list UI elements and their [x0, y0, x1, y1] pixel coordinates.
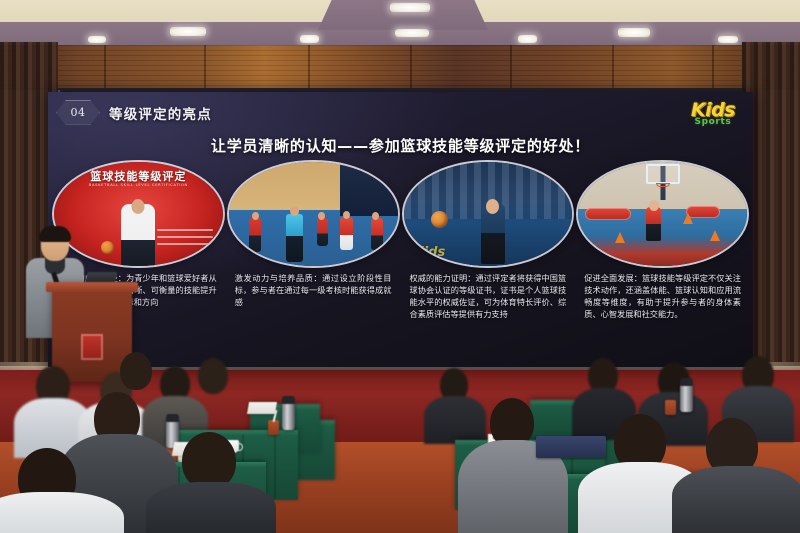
poster-person-head: [132, 199, 145, 214]
thermos-cap: [282, 396, 295, 404]
section-title: 等级评定的亮点: [109, 103, 212, 123]
kids-sports-logo: Kids Sports: [691, 101, 735, 127]
iced-drink-glass: [268, 420, 279, 435]
gym-backwall: [340, 162, 397, 216]
audience-head: [120, 352, 152, 390]
section-number-badge: 04: [56, 100, 100, 125]
player-blue: [286, 214, 303, 262]
audience-person: [0, 492, 124, 533]
handout-paper: [247, 402, 277, 414]
audience-person: [146, 482, 276, 533]
drill-player: [646, 207, 661, 241]
ceiling-downlight: [88, 36, 106, 43]
player-red: [340, 217, 353, 250]
training-cone: [683, 213, 693, 224]
audience-head: [198, 358, 228, 394]
podium-top: [46, 282, 138, 292]
player-red: [249, 218, 261, 252]
wall-seam: [612, 45, 614, 90]
player-head: [252, 212, 259, 220]
thermos-flask: [680, 382, 693, 412]
ceiling-downlight: [518, 35, 537, 43]
iced-drink-glass: [665, 400, 676, 415]
backboard: [646, 164, 680, 184]
training-cone: [710, 230, 720, 241]
ceiling-downlight: [300, 35, 319, 43]
wall-seam: [204, 45, 206, 90]
hoop-rim: [656, 183, 670, 187]
player-red: [371, 218, 383, 250]
thermos-flask: [282, 400, 295, 430]
ceiling-downlight: [618, 28, 650, 37]
poster-subtitle: BASKETBALL SKILL LEVEL CERTIFICATION: [54, 183, 223, 187]
audience-person: [672, 466, 800, 533]
photo-boy-dribbling-image: Kids: [404, 162, 573, 266]
projection-screen: 04 等级评定的亮点 Kids Sports 让学员清晰的认知——参加篮球技能等…: [48, 92, 753, 367]
screenshot-root: 04 等级评定的亮点 Kids Sports 让学员清晰的认知——参加篮球技能等…: [0, 0, 800, 533]
slide-card: 激发动力与培养品质：通过设立阶段性目标，参与者在通过每一级考核时能获得成就感: [229, 162, 398, 321]
ceiling-downlight: [170, 27, 206, 36]
thermos-cap: [166, 414, 179, 422]
photo-kids-playing-basketball-image: [229, 162, 398, 266]
card-text: 促进全面发展：篮球技能等级评定不仅关注技术动作，还涵盖体能、篮球认知和应用流畅度…: [578, 273, 747, 321]
brand-sports-text: Sports: [691, 118, 735, 127]
ceiling-downlight: [395, 29, 429, 37]
slide-cards: 篮球技能等级评定 BASKETBALL SKILL LEVEL CERTIFIC…: [54, 162, 747, 321]
player-head: [290, 206, 299, 216]
slide-card: 促进全面发展：篮球技能等级评定不仅关注技术动作，还涵盖体能、篮球认知和应用流畅度…: [578, 162, 747, 321]
ceiling-downlight: [390, 3, 430, 12]
training-cone: [615, 232, 625, 243]
wall-seam: [510, 45, 512, 90]
audience-person: [424, 396, 486, 444]
document-folder: [536, 436, 606, 458]
floor-kids-logo: Kids: [414, 245, 446, 260]
poster-title: 篮球技能等级评定: [54, 168, 223, 184]
wall-seam: [104, 45, 106, 90]
thermos-cap: [680, 378, 693, 386]
section-number: 04: [71, 106, 86, 119]
player-red: [317, 218, 328, 246]
card-text: 激发动力与培养品质：通过设立阶段性目标，参与者在通过每一级考核时能获得成就感: [229, 273, 398, 309]
wall-seam: [410, 45, 412, 90]
presenter-hair: [39, 226, 71, 242]
slide-card: Kids 权威的能力证明：通过评定者将获得中国篮球协会认证的等级证书，证书是个人…: [404, 162, 573, 321]
wall-seam: [712, 45, 714, 90]
basketball-icon: [101, 241, 114, 254]
poster-credit-lines: [157, 229, 213, 250]
court-banner: [585, 208, 631, 220]
player-head: [343, 211, 350, 219]
basketball-icon: [431, 211, 448, 228]
wood-paneled-wall: [0, 45, 800, 90]
card-text: 权威的能力证明：通过评定者将获得中国篮球协会认证的等级证书，证书是个人篮球技能水…: [404, 273, 573, 321]
podium-emblem: [81, 334, 103, 360]
ceiling-downlight: [718, 36, 738, 43]
slide-header: 04 等级评定的亮点: [56, 100, 212, 125]
wall-seam: [308, 45, 310, 90]
slide-headline: 让学员清晰的认知——参加篮球技能等级评定的好处！: [48, 135, 753, 156]
photo-player-cone-drill-image: [578, 162, 747, 266]
